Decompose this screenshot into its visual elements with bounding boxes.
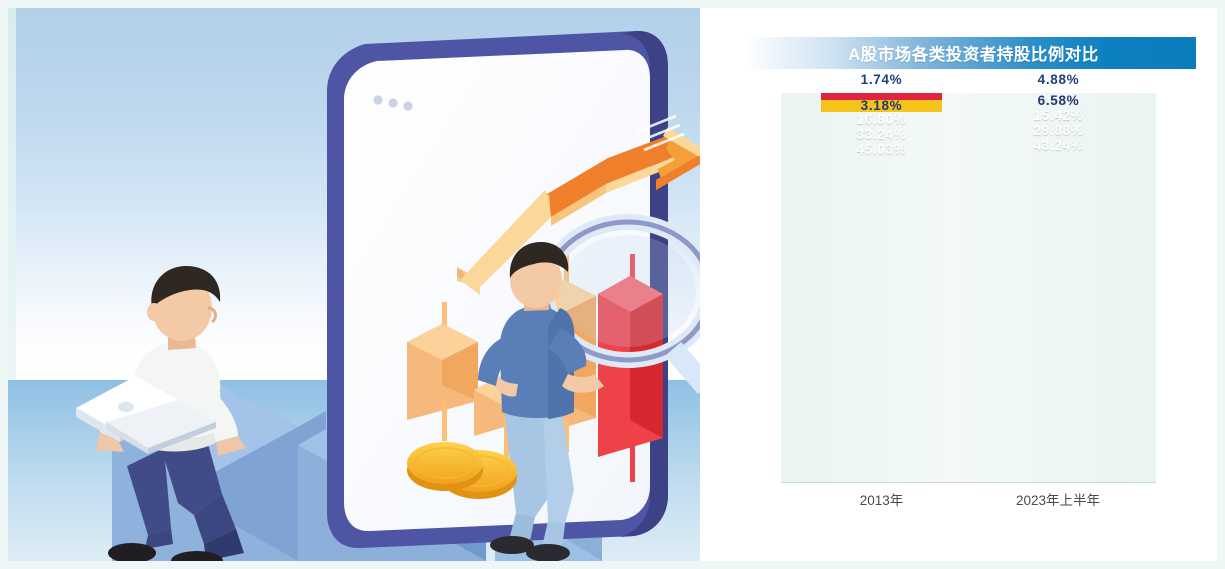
segment-value: 6.58% <box>1038 93 1080 108</box>
chart-panel: A股市场各类投资者持股比例对比 1.74% 1.74% 3.18% <box>700 8 1217 561</box>
x-axis: 2013年 2023年上半年 <box>781 489 1156 511</box>
bar-2013[interactable]: 1.74% 1.74% 3.18% 16.80% 33.24% <box>821 93 942 483</box>
x-axis-label-2023: 2023年上半年 <box>973 489 1143 509</box>
stacked-bar-chart: 1.74% 1.74% 3.18% 16.80% 33.24% <box>700 69 1217 561</box>
y-axis <box>1157 93 1215 483</box>
illustration-artwork <box>8 8 700 561</box>
plot-area: 1.74% 1.74% 3.18% 16.80% 33.24% <box>781 93 1156 483</box>
segment-value: 43.24% <box>1034 138 1084 153</box>
segment-major-individual-shareholders-2023[interactable]: 6.58% <box>998 93 1119 108</box>
segment-industrial-capital-2023[interactable]: 43.24% <box>998 138 1119 153</box>
segment-value: 15.42% <box>1034 108 1084 123</box>
segment-individual-investors-2023[interactable]: 29.88% <box>998 123 1119 138</box>
segment-label-outside: 4.88% <box>998 72 1119 87</box>
content-frame: A股市场各类投资者持股比例对比 1.74% 1.74% 3.18% <box>8 8 1217 561</box>
segment-domestic-institutions-2013[interactable]: 16.80% <box>821 112 942 127</box>
segment-major-individual-shareholders-2013[interactable]: 3.18% <box>821 100 942 112</box>
segment-value: 29.88% <box>1034 123 1084 138</box>
segment-label-outside: 1.74% <box>821 72 942 87</box>
segment-value: 16.80% <box>857 112 907 127</box>
page-title: A股市场各类投资者持股比例对比 <box>848 41 1098 65</box>
bar-2023-h1[interactable]: 4.88% 4.88% 6.58% 15.42% 29.88% <box>998 93 1119 483</box>
x-axis-label-2013: 2013年 <box>799 489 964 509</box>
segment-domestic-institutions-2023[interactable]: 15.42% <box>998 108 1119 123</box>
segment-individual-investors-2013[interactable]: 33.24% <box>821 127 942 142</box>
segment-industrial-capital-2013[interactable]: 45.03% <box>821 142 942 157</box>
segment-value: 33.24% <box>857 127 907 142</box>
chart-title-bar: A股市场各类投资者持股比例对比 <box>705 37 1196 69</box>
infographic-root: A股市场各类投资者持股比例对比 1.74% 1.74% 3.18% <box>0 0 1225 569</box>
segment-value: 45.03% <box>857 142 907 157</box>
seated-person-with-laptop-icon <box>76 266 246 561</box>
